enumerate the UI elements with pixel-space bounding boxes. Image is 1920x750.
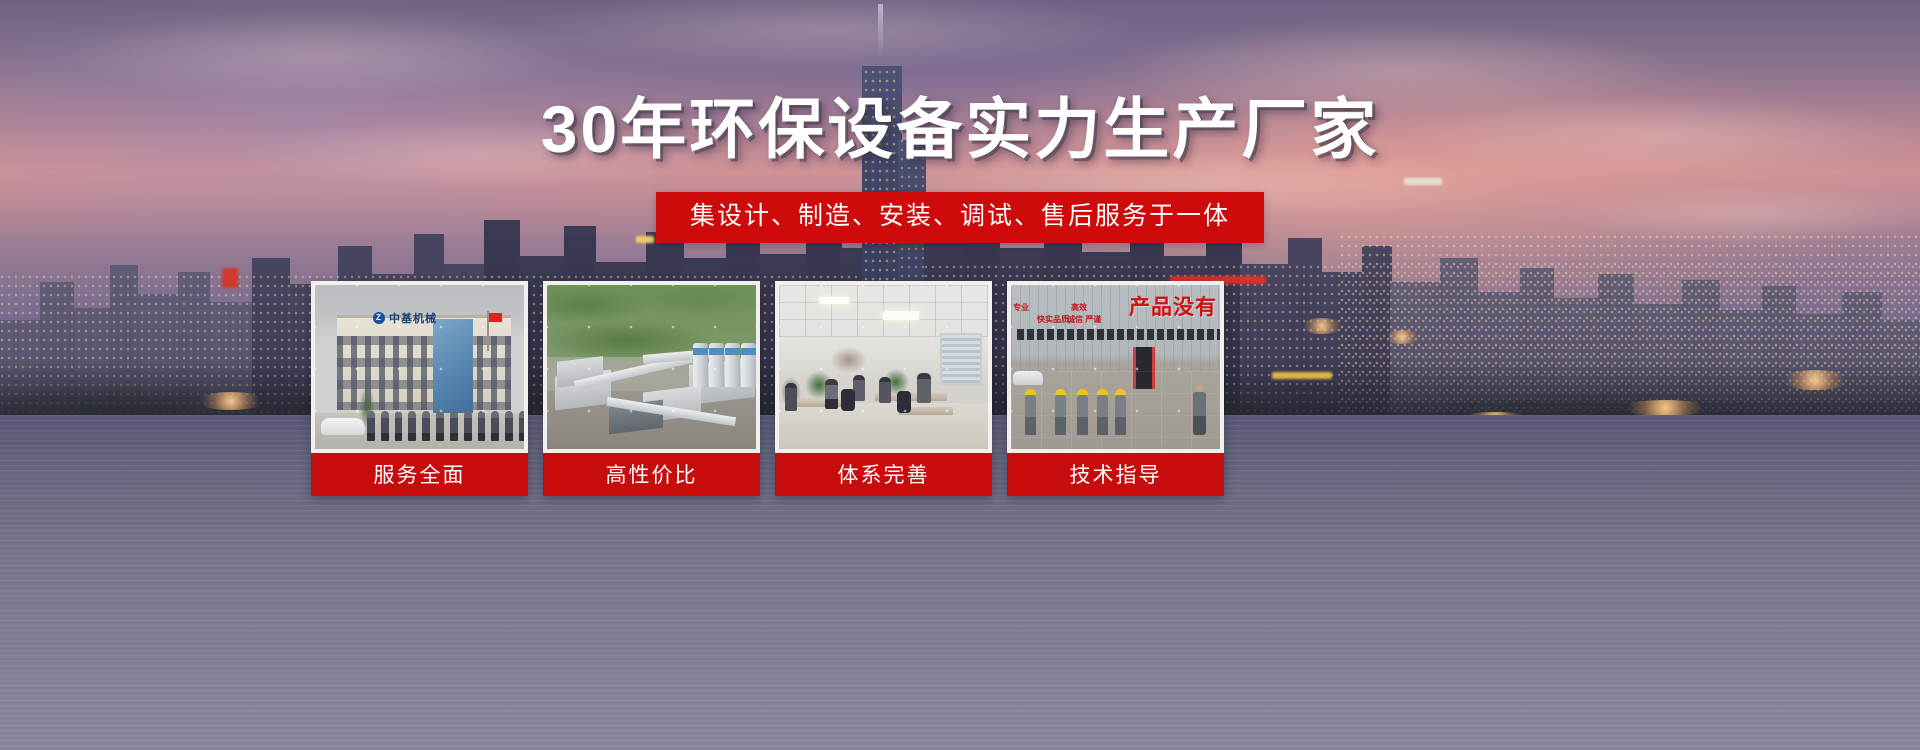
feature-card-value[interactable]: 高性价比 (543, 281, 760, 496)
card-label-system: 体系完善 (775, 453, 992, 496)
building-sign-text: 中基机械 (389, 310, 437, 326)
factory-wall-slogan: 产品没有 (1129, 291, 1217, 321)
factory-wall-slogan-small-3: 高效 (1071, 303, 1087, 312)
tagline-badge: 集设计、制造、安装、调试、售后服务于一体 (656, 192, 1264, 243)
page-title: 30年环保设备实力生产厂家 (0, 96, 1920, 162)
card-label-service: 服务全面 (311, 453, 528, 496)
feature-card-system[interactable]: 体系完善 (775, 281, 992, 496)
hero-banner: 30年环保设备实力生产厂家 集设计、制造、安装、调试、售后服务于一体 Z 中基机… (0, 0, 1920, 750)
card-photo-office-interior (779, 285, 988, 449)
factory-wall-slogan-small-1: 专业 (1013, 303, 1029, 312)
tagline-container: 集设计、制造、安装、调试、售后服务于一体 (0, 192, 1920, 243)
feature-card-row: Z 中基机械 服务全面 (311, 281, 1611, 496)
card-label-value: 高性价比 (543, 453, 760, 496)
card-photo-office-building: Z 中基机械 (315, 285, 524, 449)
building-sign: Z 中基机械 (373, 309, 485, 326)
card-photo-factory-workers: 产品没有 专业 快实品质 高效 诚信 严谨 (1011, 285, 1220, 449)
factory-wall-slogan-small-2: 快实品质 (1037, 315, 1069, 324)
company-logo-icon: Z (373, 312, 385, 324)
factory-wall-slogan-small-4: 诚信 严谨 (1067, 315, 1101, 324)
feature-card-guidance[interactable]: 产品没有 专业 快实品质 高效 诚信 严谨 技术指导 (1007, 281, 1224, 496)
feature-card-service[interactable]: Z 中基机械 服务全面 (311, 281, 528, 496)
card-photo-industrial-plant (547, 285, 756, 449)
card-label-guidance: 技术指导 (1007, 453, 1224, 496)
